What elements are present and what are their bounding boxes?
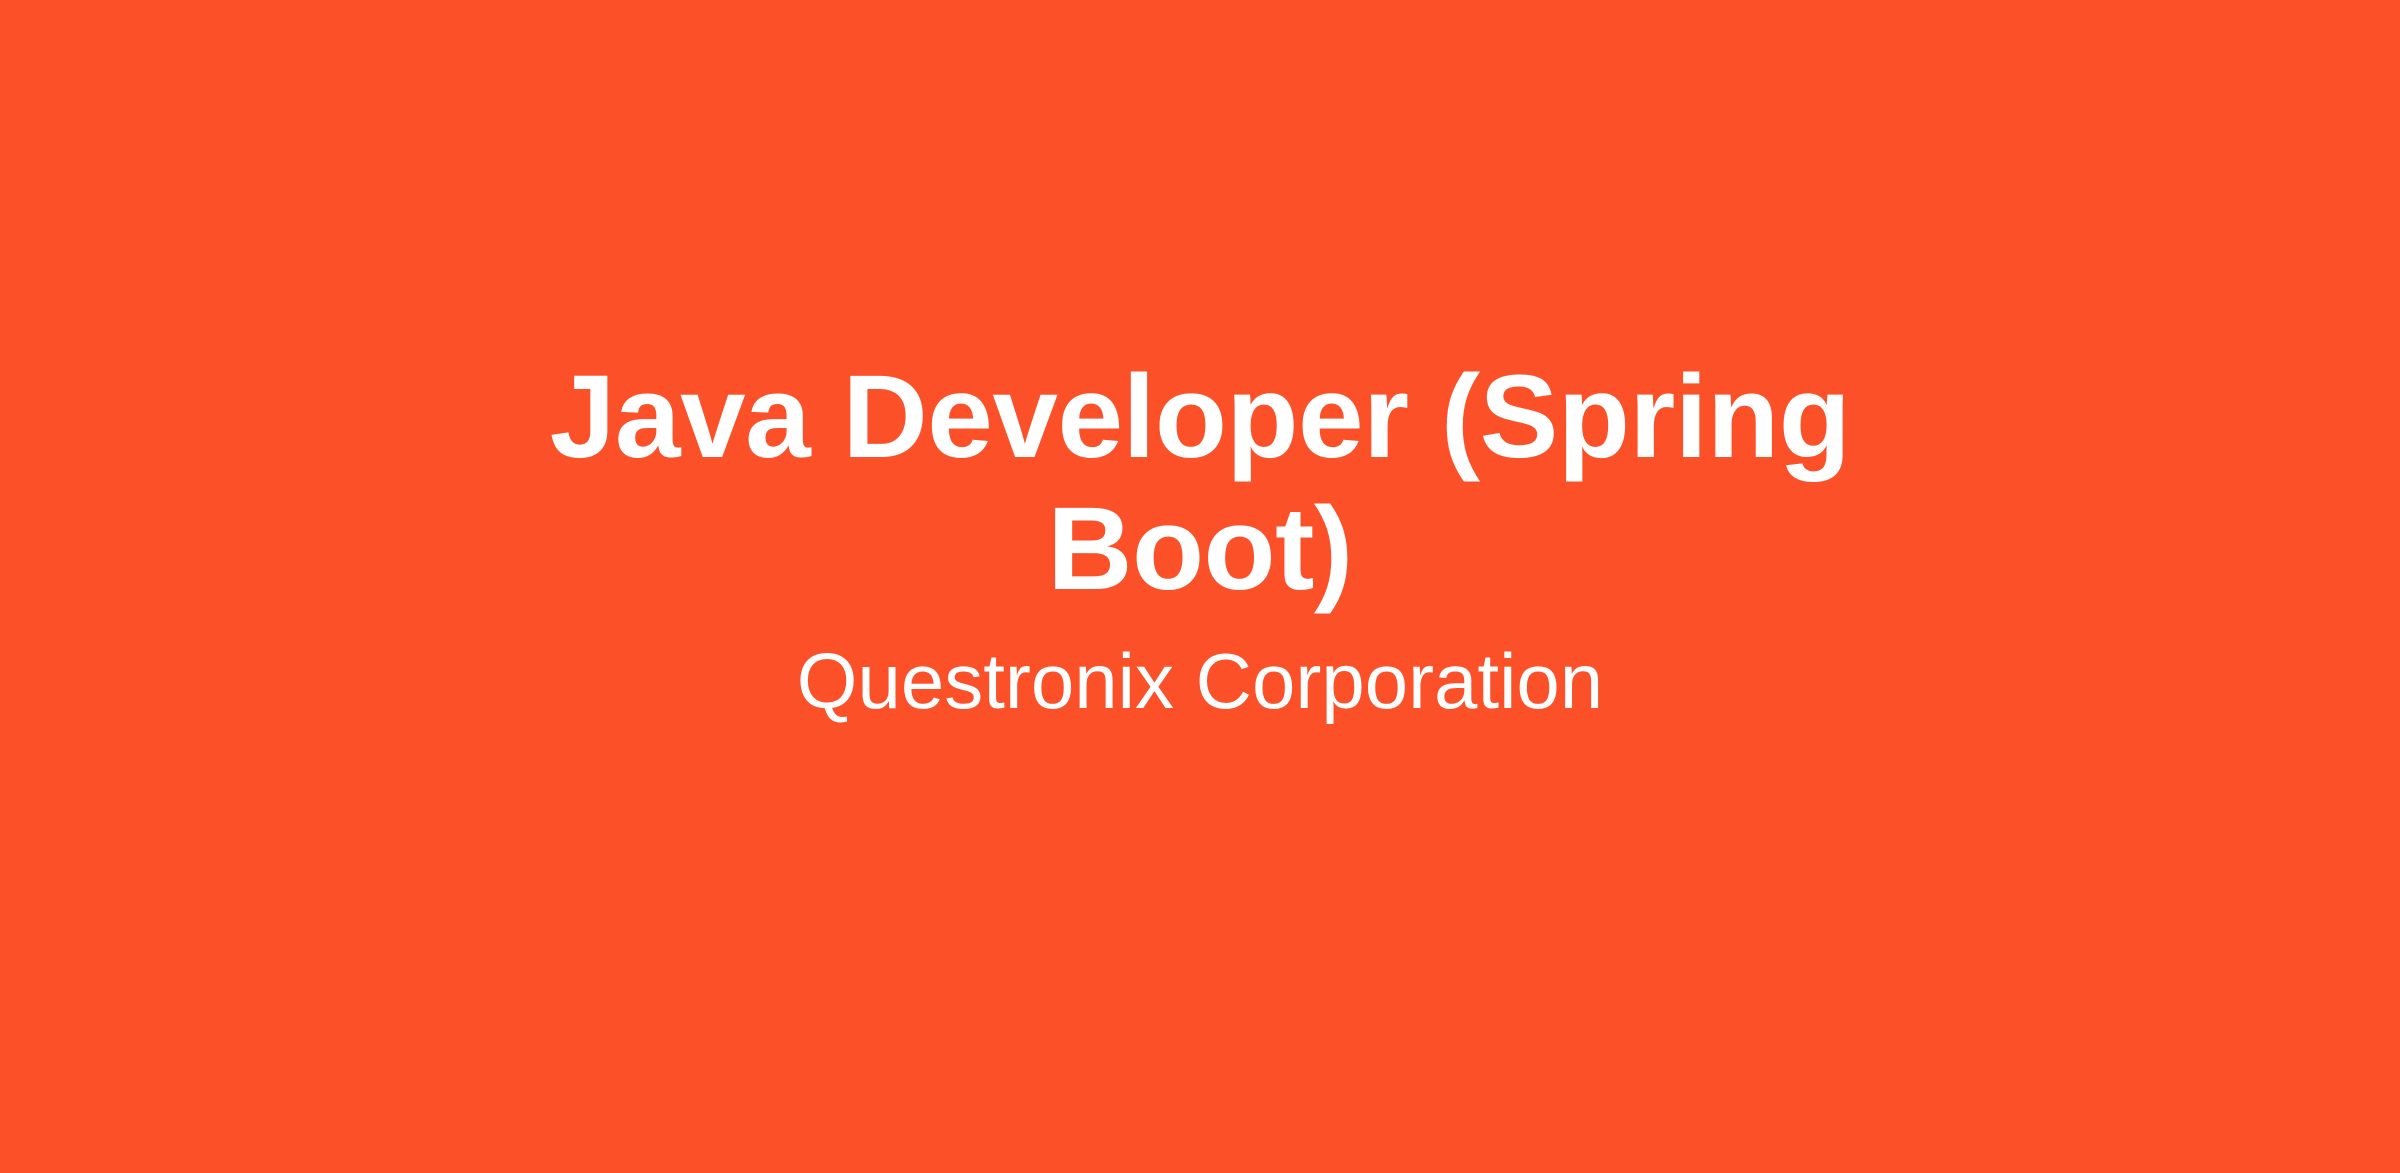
job-title: Java Developer (Spring Boot) [498, 351, 1902, 615]
job-hero-text-block: Java Developer (Spring Boot) Questronix … [498, 351, 1902, 727]
job-posting-hero-banner: Java Developer (Spring Boot) Questronix … [0, 0, 2400, 1173]
company-name: Questronix Corporation [498, 637, 1902, 727]
